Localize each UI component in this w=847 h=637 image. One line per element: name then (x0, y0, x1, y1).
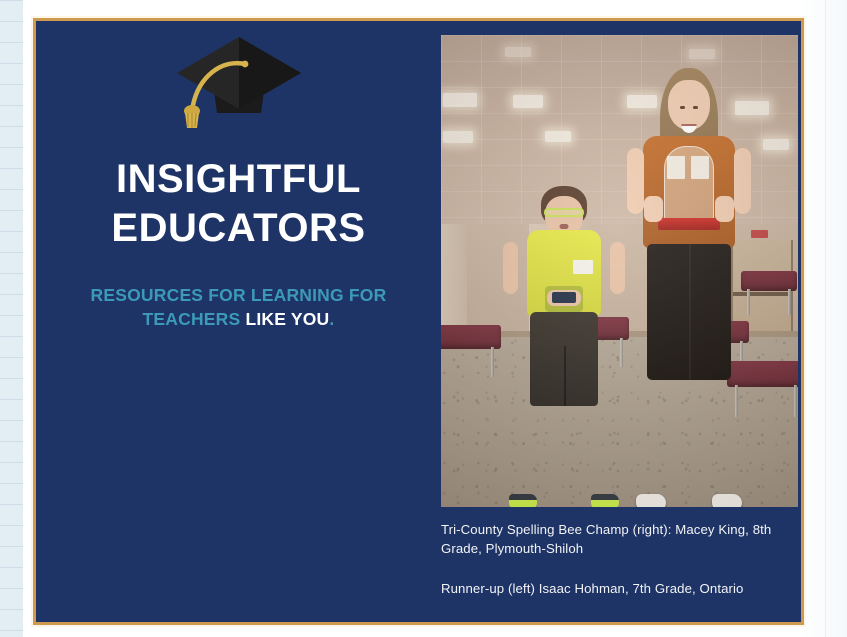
pants (530, 312, 598, 406)
shoe-left (509, 494, 537, 507)
chair (741, 271, 797, 315)
pants (647, 244, 731, 380)
graduation-cap-icon (149, 33, 329, 133)
caption-runner-up: Runner-up (left) Isaac Hohman, 7th Grade… (441, 580, 781, 599)
ceiling-light (443, 93, 477, 107)
photo-scene (441, 35, 798, 507)
arm-left (503, 242, 518, 294)
hand-right (715, 196, 734, 222)
shoe-left (636, 494, 666, 507)
newsletter-card: INSIGHTFUL EDUCATORS RESOURCES FOR LEARN… (33, 18, 804, 625)
arm-left (627, 148, 644, 214)
spelling-bee-winners-photo (441, 35, 798, 507)
shoe-right (712, 494, 742, 507)
ruled-paper-margin (0, 0, 23, 637)
ceiling-light (545, 131, 571, 142)
title-line-1: INSIGHTFUL (36, 155, 441, 204)
arm-right (610, 242, 625, 294)
mouth (560, 224, 569, 229)
ceiling-light (513, 95, 543, 108)
champion-person (630, 68, 748, 507)
handheld-object (552, 292, 576, 303)
name-badge (573, 260, 593, 274)
photo-captions: Tri-County Spelling Bee Champ (right): M… (441, 521, 781, 599)
ceiling-vent (689, 49, 715, 59)
exit-sign-icon (751, 230, 768, 238)
runner-up-person (505, 186, 623, 507)
subtitle-highlight: LIKE YOU (245, 309, 329, 329)
photo-column: Tri-County Spelling Bee Champ (right): M… (441, 21, 801, 622)
page-title: INSIGHTFUL EDUCATORS (36, 155, 441, 253)
subtitle: RESOURCES FOR LEARNING FOR TEACHERS LIKE… (74, 283, 404, 331)
ceiling-light (763, 139, 789, 150)
caption-champion: Tri-County Spelling Bee Champ (right): M… (441, 521, 781, 558)
ceiling-vent (505, 47, 531, 57)
ceiling-light (443, 131, 473, 143)
trophy-base (658, 218, 720, 230)
page-right-shading (800, 0, 847, 637)
hand-left (644, 196, 663, 222)
masthead: INSIGHTFUL EDUCATORS RESOURCES FOR LEARN… (36, 21, 441, 622)
wall-column (441, 224, 467, 337)
shoe-right (591, 494, 619, 507)
grid-line-vertical (825, 0, 826, 637)
subtitle-lead: RESOURCES FOR LEARNING FOR TEACHERS (91, 285, 387, 329)
subtitle-period: . (329, 309, 334, 329)
eye-left (680, 106, 685, 109)
arm-right (734, 148, 751, 214)
eye-right (693, 106, 698, 109)
glasses-icon (544, 208, 584, 217)
trophy-icon (664, 146, 714, 224)
title-line-2: EDUCATORS (36, 204, 441, 253)
chair (441, 325, 501, 377)
face (668, 80, 710, 130)
